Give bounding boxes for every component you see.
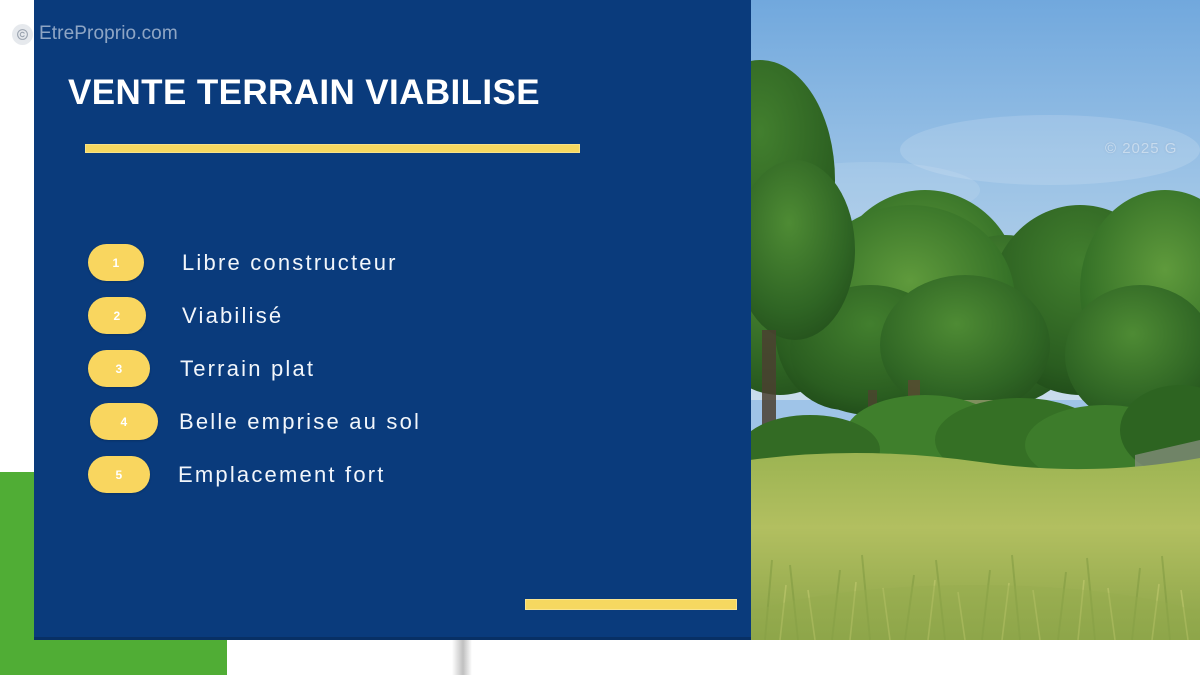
feature-number-badge: 4 [90, 403, 158, 440]
feature-label: Libre constructeur [182, 250, 398, 276]
bottom-accent-bar [525, 599, 737, 610]
photo-illustration [750, 0, 1200, 640]
site-watermark-label: EtreProprio.com [39, 23, 178, 45]
list-item: 5 Emplacement fort [88, 448, 648, 501]
feature-number-badge: 1 [88, 244, 144, 281]
feature-label: Viabilisé [182, 303, 283, 329]
list-item: 2 Viabilisé [88, 289, 648, 342]
photo-copyright-watermark: © 2025 G [1105, 140, 1177, 157]
terrain-photo: © 2025 G [750, 0, 1200, 640]
page-title: VENTE TERRAIN VIABILISE [68, 73, 540, 113]
list-item: 1 Libre constructeur [88, 236, 648, 289]
page-fold-shadow [452, 640, 472, 675]
copyright-circle-icon [12, 24, 33, 45]
feature-number-badge: 2 [88, 297, 146, 334]
feature-label: Belle emprise au sol [179, 409, 421, 435]
feature-label: Terrain plat [180, 356, 315, 382]
feature-label: Emplacement fort [178, 462, 386, 488]
list-item: 3 Terrain plat [88, 342, 648, 395]
title-underline-rule [85, 144, 580, 153]
feature-number-badge: 5 [88, 456, 150, 493]
site-watermark: EtreProprio.com [12, 23, 178, 45]
slide-canvas: © 2025 G EtreProprio.com VENTE TERRAIN V… [0, 0, 1200, 675]
feature-number-badge: 3 [88, 350, 150, 387]
feature-list: 1 Libre constructeur 2 Viabilisé 3 Terra… [88, 236, 648, 501]
list-item: 4 Belle emprise au sol [88, 395, 648, 448]
